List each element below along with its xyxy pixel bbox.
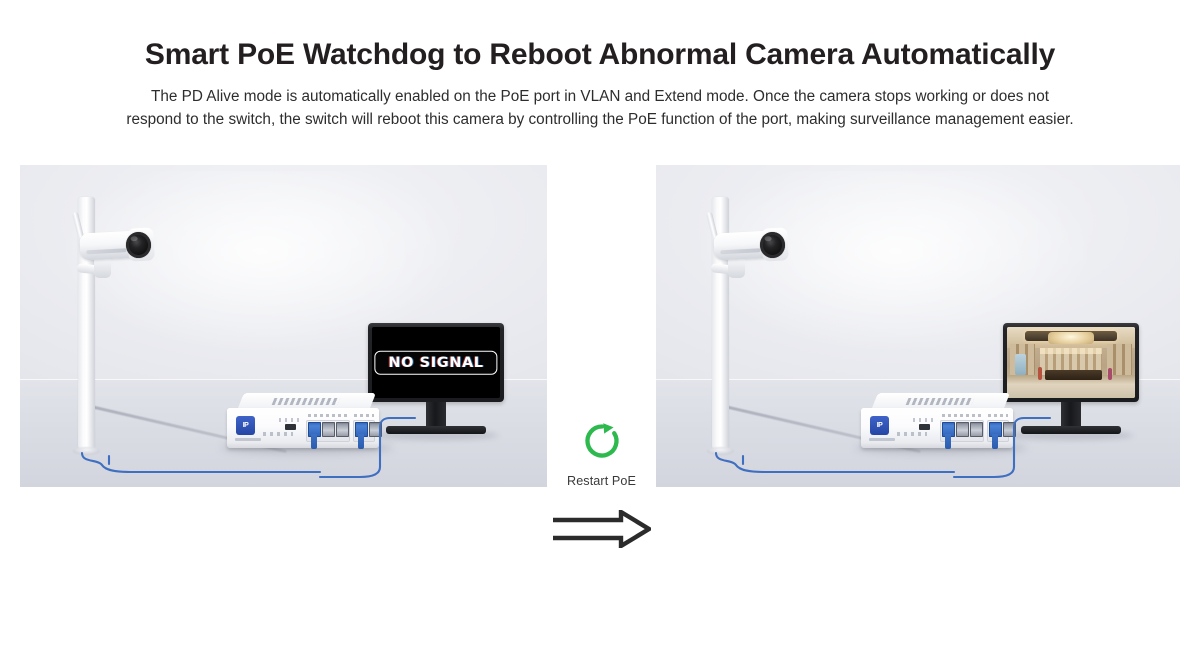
switch-plug-tail-1 — [945, 434, 951, 449]
monitor-screen — [1007, 327, 1135, 398]
switch-port-3[interactable] — [336, 422, 349, 437]
monitor-bezel: NO SIGNAL — [368, 323, 504, 402]
switch-top-label — [272, 398, 341, 405]
switch-port-5[interactable] — [1003, 422, 1016, 437]
monitor-screen: NO SIGNAL — [372, 327, 500, 398]
no-signal-plate: NO SIGNAL — [374, 350, 497, 375]
pole-base — [73, 447, 100, 455]
right-arrow-icon — [553, 510, 651, 553]
pole-base — [707, 447, 734, 455]
switch-port-2[interactable] — [322, 422, 335, 437]
switch-logo-text: IP — [877, 422, 883, 429]
switch-led-row — [263, 432, 293, 436]
switch-brand-logo: IP — [870, 416, 889, 435]
switch-port-5[interactable] — [369, 422, 382, 437]
switch-port-label-group2 — [354, 414, 374, 417]
switch-port-3[interactable] — [970, 422, 983, 437]
page-header: Smart PoE Watchdog to Reboot Abnormal Ca… — [0, 0, 1200, 132]
switch-port-label-group1 — [942, 414, 982, 417]
monitor-neck — [426, 402, 446, 428]
lobby-chandelier — [1048, 332, 1094, 344]
poe-switch: IP — [227, 408, 379, 448]
switch-plug-tail-2 — [358, 434, 364, 449]
lobby-reception-desk — [1045, 370, 1101, 379]
page-description: The PD Alive mode is automatically enabl… — [12, 85, 1188, 132]
switch-model-text — [235, 438, 261, 441]
switch-dip-marking — [913, 418, 937, 422]
monitor-no-signal: NO SIGNAL — [368, 323, 504, 402]
switch-model-text — [869, 438, 895, 441]
lobby-person-left — [1038, 367, 1042, 379]
switch-port-label-group2 — [988, 414, 1008, 417]
switch-port-label-group1 — [308, 414, 348, 417]
switch-top-label — [906, 398, 975, 405]
monitor-foot — [1021, 426, 1121, 434]
description-line-1: The PD Alive mode is automatically enabl… — [12, 85, 1188, 108]
switch-brand-logo: IP — [236, 416, 255, 435]
monitor-bezel — [1003, 323, 1139, 402]
illustration-stage: NO SIGNAL IP — [0, 165, 1200, 488]
switch-led-row — [897, 432, 927, 436]
hotel-lobby-live-video — [1007, 327, 1135, 398]
bullet-security-camera — [702, 210, 812, 302]
poe-switch: IP — [861, 408, 1013, 448]
lobby-glass-door — [1015, 354, 1027, 375]
monitor-neck — [1061, 402, 1081, 428]
bullet-security-camera — [68, 210, 178, 302]
page-title: Smart PoE Watchdog to Reboot Abnormal Ca… — [0, 38, 1200, 71]
lobby-person-right — [1108, 368, 1112, 379]
no-signal-text: NO SIGNAL — [388, 355, 483, 370]
monitor-live-feed — [1003, 323, 1139, 402]
lobby-wall-glow — [1040, 348, 1101, 354]
description-line-2: respond to the switch, the switch will r… — [12, 108, 1188, 131]
transition-indicator: Restart PoE — [547, 330, 656, 652]
switch-dip-switch[interactable] — [919, 424, 930, 430]
switch-plug-tail-2 — [992, 434, 998, 449]
restart-label: Restart PoE — [567, 474, 636, 488]
switch-logo-text: IP — [243, 422, 249, 429]
switch-dip-switch[interactable] — [285, 424, 296, 430]
monitor-foot — [386, 426, 486, 434]
restart-circular-arrow-icon — [581, 420, 623, 467]
after-state-panel: IP — [656, 165, 1180, 487]
before-state-panel: NO SIGNAL IP — [20, 165, 547, 487]
switch-dip-marking — [279, 418, 303, 422]
switch-port-2[interactable] — [956, 422, 969, 437]
switch-plug-tail-1 — [311, 434, 317, 449]
